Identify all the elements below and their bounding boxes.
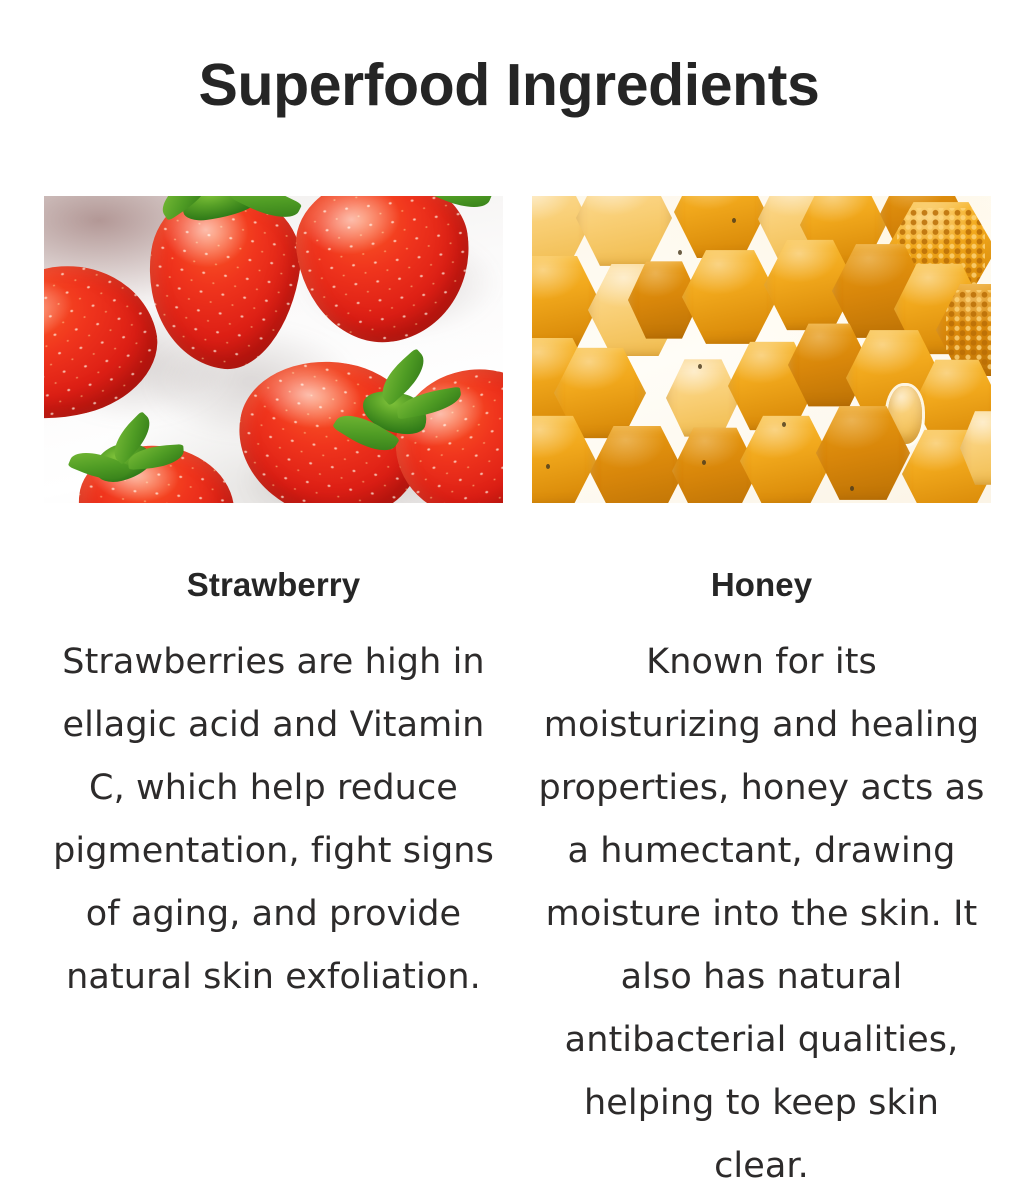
honeycomb-photo [532,196,991,503]
ingredient-description-strawberry: Strawberries are high in ellagic acid an… [44,631,503,1009]
strawberry-photo [44,196,503,503]
ingredient-card-honey: Honey Known for its moisturizing and hea… [532,196,991,1190]
debris-speck [782,422,786,427]
ingredient-card-strawberry: Strawberry Strawberries are high in ella… [44,196,503,1009]
page-title: Superfood Ingredients [0,52,1018,118]
debris-speck [546,464,550,469]
debris-speck [732,218,736,223]
ingredient-card-grid: Strawberry Strawberries are high in ella… [44,196,990,1190]
debris-speck [698,364,702,369]
ingredient-name-strawberry: Strawberry [44,565,503,605]
debris-speck [702,460,706,465]
ingredient-description-honey: Known for its moisturizing and healing p… [532,631,991,1190]
honey-image [532,196,991,503]
debris-speck [850,486,854,491]
strawberry-image [44,196,503,503]
ingredient-name-honey: Honey [532,565,991,605]
debris-speck [678,250,682,255]
